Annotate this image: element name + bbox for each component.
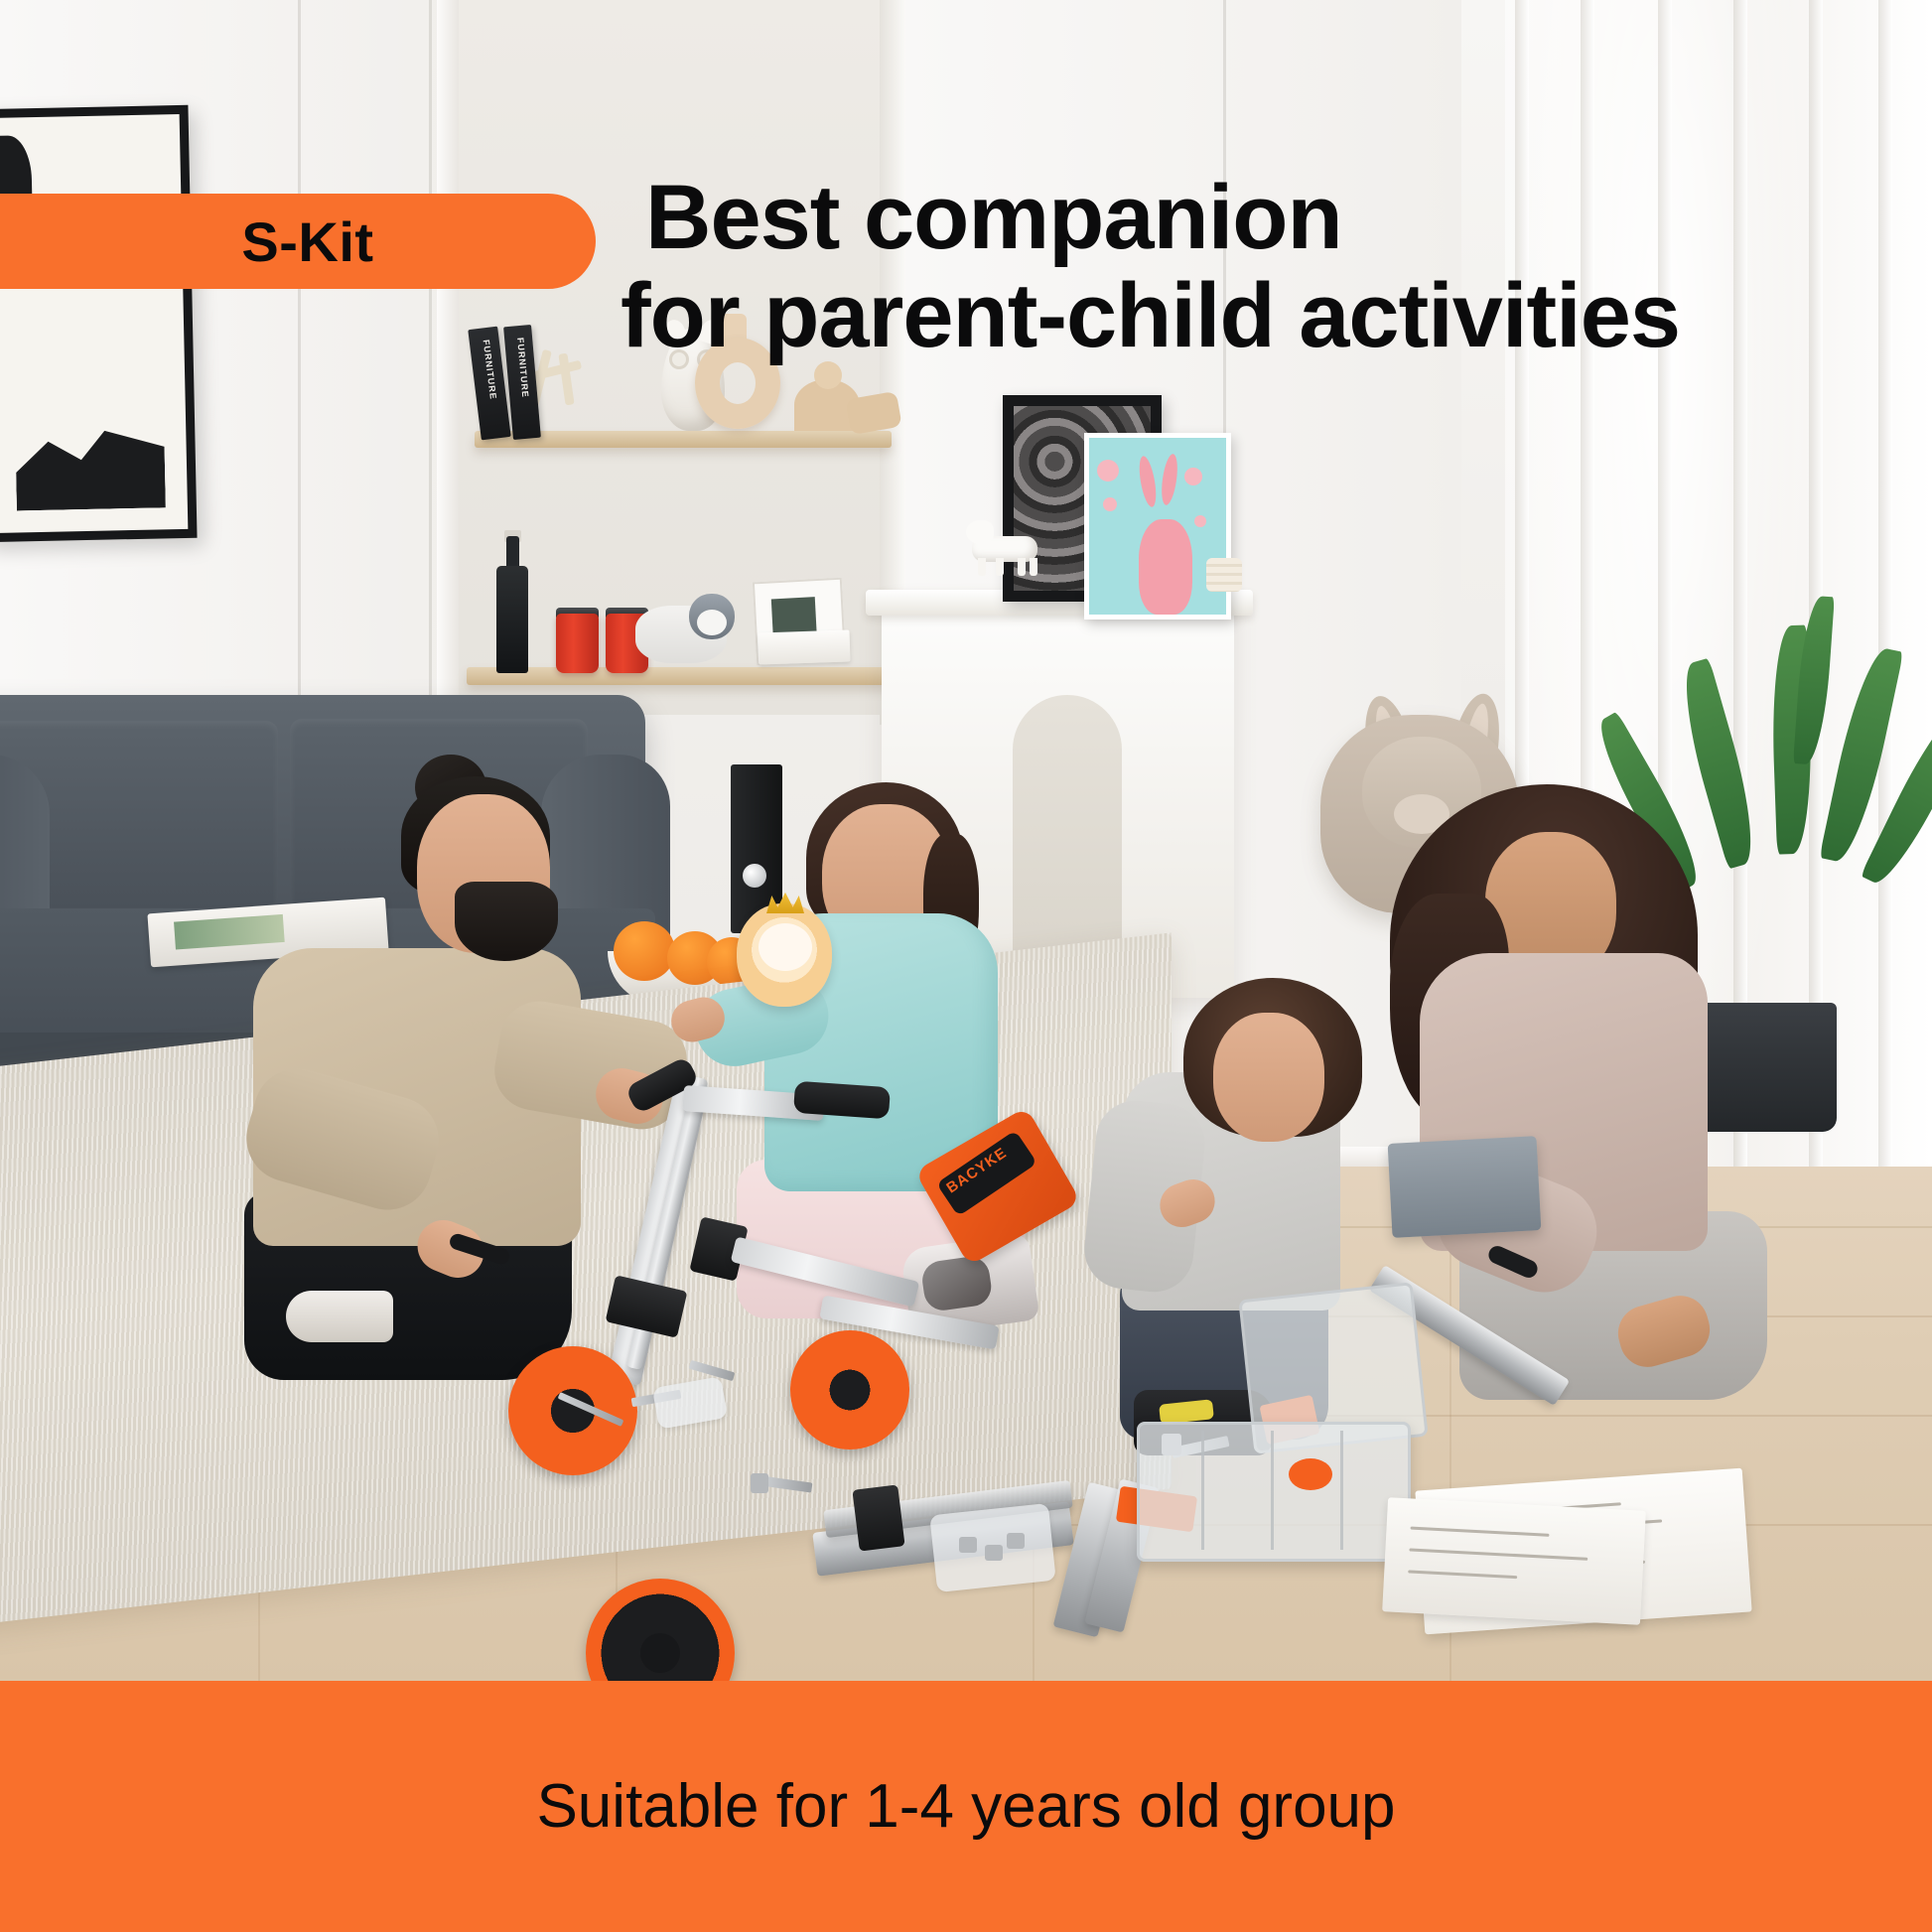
rabbit-poster (1084, 433, 1231, 620)
scooter-wheel-rear (790, 1330, 909, 1449)
orange-fruit (614, 921, 675, 981)
wine-bottle (496, 566, 528, 673)
footer-banner: Suitable for 1-4 years old group (0, 1681, 1932, 1932)
curtain-fold (1878, 0, 1892, 1181)
art-scribble (0, 114, 188, 533)
hex-bolt (985, 1545, 1003, 1561)
speaker-knob (743, 864, 766, 888)
headline: Best companion for parent-child activiti… (645, 169, 1680, 366)
scooter-grip-right (793, 1081, 891, 1120)
tube-clamp (852, 1484, 904, 1551)
husky-plush-face (697, 610, 727, 635)
dog-figurine (966, 514, 1039, 576)
shelf-lower (467, 667, 892, 685)
scooter-wheel-front (508, 1346, 637, 1475)
parts-case (1137, 1422, 1411, 1562)
footer-text: Suitable for 1-4 years old group (536, 1771, 1395, 1842)
candle-decor (1206, 558, 1242, 592)
art-mat (0, 114, 188, 533)
book-spine-label: FURNITURE (482, 339, 498, 400)
red-tumbler (556, 614, 599, 673)
brand-badge-label: S-Kit (82, 209, 373, 274)
headline-line-1: Best companion (645, 167, 1342, 268)
instruction-manual-page (1382, 1497, 1646, 1624)
product-lifestyle-banner: FURNITURE FURNITURE (0, 0, 1932, 1932)
hex-bolt (959, 1537, 977, 1553)
bolt-head (751, 1473, 768, 1493)
book-spine-label: FURNITURE (515, 338, 530, 399)
magazine-stack (758, 629, 850, 664)
brand-badge: S-Kit (0, 194, 596, 289)
hex-bolt (1007, 1533, 1025, 1549)
alcove-edge-left (437, 0, 459, 725)
lion-toy-face (759, 923, 812, 971)
father-shoe (286, 1291, 393, 1342)
spare-wheel-hub (640, 1633, 680, 1673)
plant-pot (1688, 1003, 1837, 1132)
headline-line-2: for parent-child activities (621, 267, 1680, 365)
framed-abstract-art (0, 105, 198, 542)
grey-toolbox (1388, 1136, 1542, 1238)
son-head (1213, 1013, 1324, 1142)
